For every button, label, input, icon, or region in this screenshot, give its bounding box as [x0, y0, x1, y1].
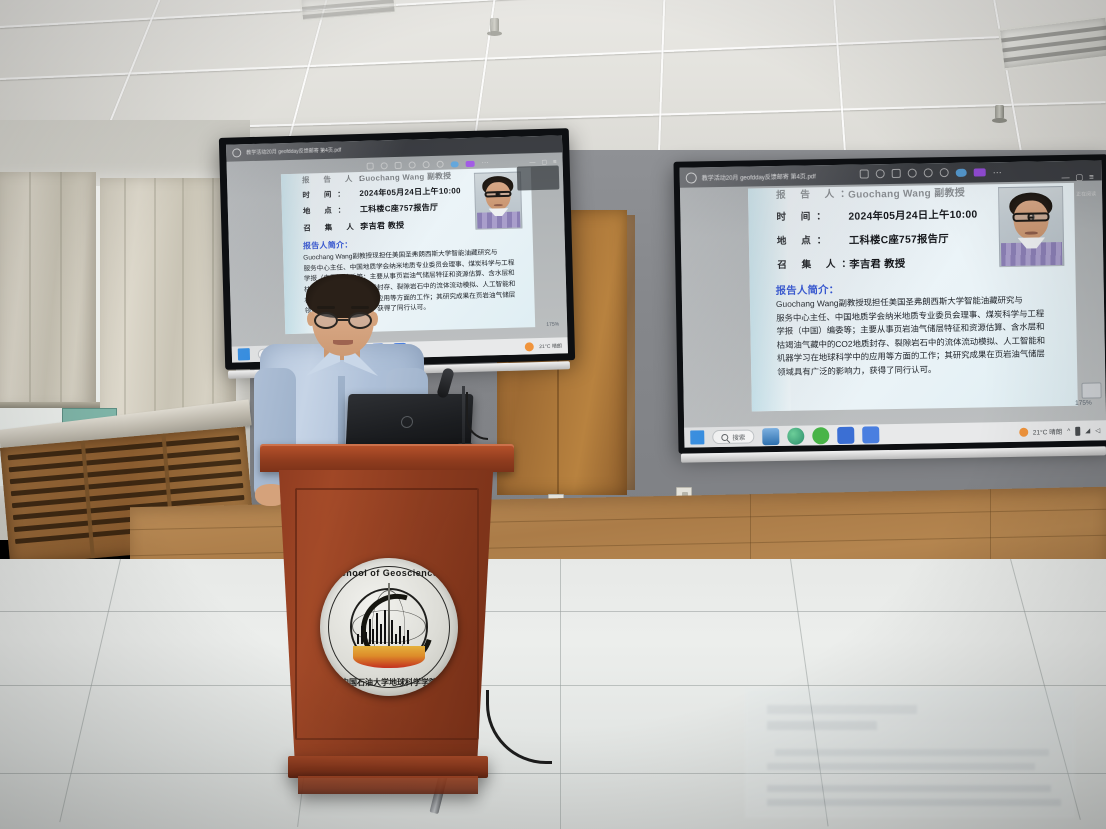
presenter-mouth [333, 340, 353, 345]
pdf-zoom-indicator-right: 175% [1075, 400, 1092, 407]
highlight-icon[interactable] [466, 160, 475, 166]
presenter-hair [306, 274, 380, 318]
slide-place-label-right: 地 点： [777, 232, 833, 247]
laptop[interactable] [346, 394, 474, 450]
slide-speaker-name-right: Guochang Wang 副教授 [848, 184, 965, 201]
slide-host-value-right: 李吉君 教授 [849, 255, 905, 271]
weather-text-left: 21°C 晴朗 [539, 342, 562, 350]
annotate-icon[interactable] [367, 163, 374, 170]
app-logo-icon-right [686, 172, 697, 183]
speaker-portrait-left [474, 172, 523, 230]
chart-app-icon[interactable] [762, 428, 779, 445]
comment-icon[interactable] [437, 161, 444, 168]
more-icon[interactable]: ··· [482, 159, 489, 166]
slide-place-value-left: 工科楼C座757报告厅 [360, 202, 439, 215]
pdf-window-title-left: 教学活动20月 geofdday反馈邮寄 第4页.pdf [246, 147, 341, 157]
podium-top-surface [260, 444, 514, 472]
wechat-app-icon[interactable] [812, 427, 829, 444]
annotate-icon[interactable] [860, 169, 869, 178]
search-placeholder-right: 搜索 [732, 432, 745, 442]
weather-icon [1019, 427, 1028, 436]
windows-start-icon[interactable] [690, 430, 704, 444]
heart-icon[interactable] [409, 161, 416, 168]
highlight-icon[interactable] [974, 168, 986, 176]
weather-icon [525, 342, 534, 351]
maximize-icon[interactable]: ▢ [1076, 173, 1084, 182]
projection-screen-right[interactable]: 教学活动20月 geofdday反馈邮寄 第4页.pdf ··· — ▢ ≡ 正… [680, 160, 1106, 447]
heart-icon[interactable] [908, 169, 917, 178]
pdf-side-label-right: 正在阅读 [1076, 190, 1096, 197]
laptop-logo-icon [401, 416, 414, 428]
trash-icon[interactable] [892, 169, 901, 178]
slide-place-value-right: 工科楼C座757报告厅 [849, 230, 949, 247]
comment-icon[interactable] [940, 168, 949, 177]
slide-speaker-name-left: Guochang Wang 副教授 [359, 170, 452, 184]
speaker-portrait-right [998, 186, 1064, 267]
slide-time-value-left: 2024年05月24日上午10:00 [359, 185, 461, 199]
windows-start-icon[interactable] [238, 348, 250, 360]
minimize-icon[interactable]: — [529, 160, 535, 166]
podium-base-plinth [298, 776, 478, 794]
rotate-icon[interactable] [876, 169, 885, 178]
slide-time-label-left: 时 间： [302, 188, 351, 200]
fire-sprinkler-icon-2 [490, 18, 499, 32]
slide-time-label-right: 时 间： [776, 208, 832, 223]
editor-app-icon[interactable] [862, 426, 879, 443]
network-icon[interactable]: ◢ [1085, 427, 1090, 435]
wood-wall-panel-left-strip [627, 215, 635, 490]
minimize-icon[interactable]: — [1062, 173, 1070, 182]
presenter-glasses-right-lens [348, 312, 372, 329]
browser-app-icon[interactable] [787, 427, 804, 444]
slide-speaker-label-right: 报 告 人： [776, 186, 856, 201]
battery-icon[interactable] [1075, 426, 1080, 435]
chevron-up-icon[interactable]: ^ [1067, 427, 1070, 434]
pdf-floating-button-right[interactable] [1081, 382, 1101, 398]
window-controls-right[interactable]: — ▢ ≡ [1062, 172, 1094, 182]
rotate-icon[interactable] [381, 162, 388, 169]
pdf-zoom-indicator-left: 175% [546, 322, 559, 328]
window-blind-left[interactable] [0, 172, 96, 408]
slide-bio-heading-right: 报告人简介： [776, 281, 840, 297]
fire-sprinkler-icon [995, 105, 1004, 119]
app-logo-icon [232, 148, 241, 157]
trash-icon[interactable] [395, 162, 402, 169]
slide-host-label-right: 召 集 人： [777, 256, 857, 271]
presenter-brow-right [351, 306, 369, 309]
clock-icon[interactable] [924, 168, 933, 177]
more-icon[interactable]: ··· [993, 168, 1002, 176]
emblem-bottom-text: 中国石油大学地球科学学院 [320, 677, 458, 688]
floor-reflection-right-screen [745, 688, 1075, 818]
presenter-brow-left [317, 306, 335, 309]
pdf-window-title-right: 教学活动20月 geofdday反馈邮寄 第4页.pdf [702, 171, 816, 182]
projection-screen-right-frame: 教学活动20月 geofdday反馈邮寄 第4页.pdf ··· — ▢ ≡ 正… [673, 154, 1106, 454]
microphone-stem [462, 386, 465, 446]
cloud-icon[interactable] [956, 168, 967, 176]
presenter-glasses-bridge [338, 319, 348, 321]
taskbar-tray-left[interactable]: 21°C 晴朗 [525, 341, 562, 351]
pdf-sidepanel-left[interactable] [517, 165, 560, 190]
menu-icon[interactable]: ≡ [553, 159, 557, 165]
taskbar-search-input-right[interactable]: 搜索 [712, 429, 754, 444]
presenter-glasses-left-lens [314, 312, 338, 329]
lecture-hall-photo: 教学活动20月 geofdday反馈邮寄 第4页.pdf ··· — ▢ ≡ [0, 0, 1106, 829]
clock-icon[interactable] [423, 161, 430, 168]
school-emblem: School of Geosciences 中国石油大学地球科学学院 [320, 558, 458, 696]
slide-bio-heading-left: 报告人简介： [303, 239, 353, 251]
slide-time-value-right: 2024年05月24日上午10:00 [848, 206, 977, 223]
menu-icon[interactable]: ≡ [1089, 172, 1094, 181]
emblem-sunrise-arc-icon [353, 646, 425, 668]
weather-text-right: 21°C 晴朗 [1033, 426, 1063, 437]
volume-icon[interactable]: ◁ [1095, 426, 1100, 434]
cloud-icon[interactable] [451, 161, 459, 167]
slide-bio-body-right: Guochang Wang副教授现担任美国圣弗朗西斯大学智能油藏研究与 服务中心… [776, 293, 1071, 380]
taskbar-tray-right[interactable]: 21°C 晴朗 ^ ◢ ◁ [1019, 425, 1101, 436]
slide-place-label-left: 地 点： [303, 204, 352, 216]
podium-base [288, 756, 488, 778]
slide-host-value-left: 李吉君 教授 [360, 220, 404, 232]
store-app-icon[interactable] [837, 426, 854, 443]
search-icon [721, 433, 728, 440]
emblem-top-text: School of Geosciences [320, 568, 458, 578]
presentation-slide-right: 报 告 人： Guochang Wang 副教授 时 间： 2024年05月24… [748, 183, 1078, 412]
